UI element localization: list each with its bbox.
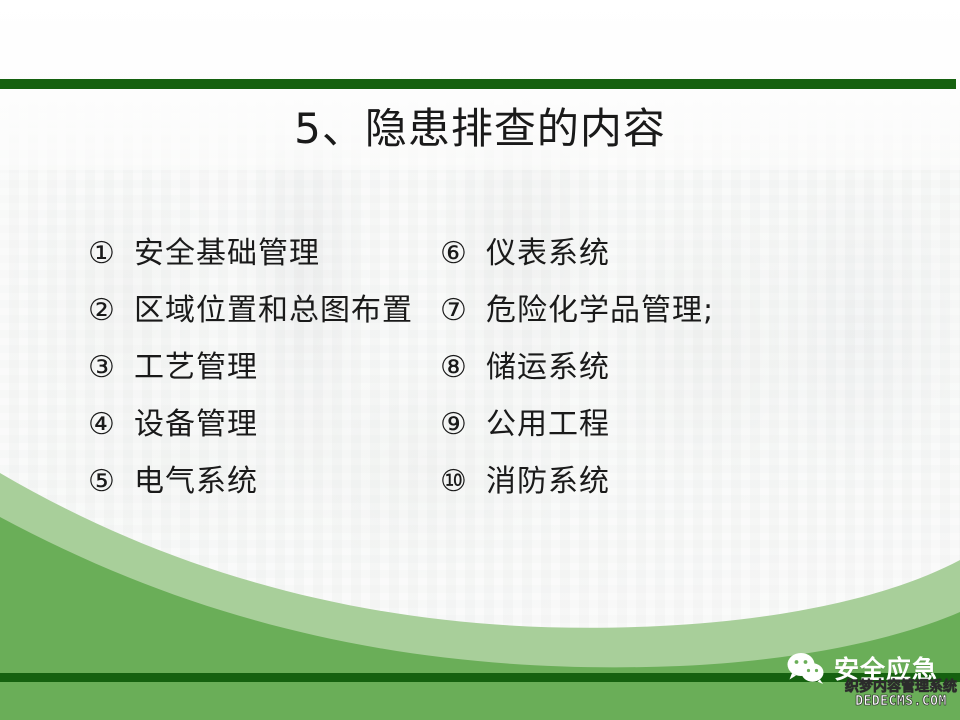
list-item: ⑦ 危险化学品管理; — [440, 285, 880, 342]
page-title: 5、隐患排查的内容 — [0, 104, 960, 154]
list-item: ⑨ 公用工程 — [440, 399, 880, 456]
watermark-chinese-text: 织梦内容管理系统 — [845, 680, 957, 695]
list-item: ③ 工艺管理 — [88, 342, 420, 399]
list-item: ② 区域位置和总图布置 — [88, 285, 420, 342]
dedecms-watermark: 织梦内容管理系统 DEDECMS.COM — [845, 680, 957, 708]
list-item: ① 安全基础管理 — [88, 228, 420, 285]
list-item-label: 储运系统 — [486, 342, 610, 386]
list-item-marker: ③ — [88, 350, 134, 385]
list-item-label: 设备管理 — [134, 399, 258, 443]
list-item-label: 安全基础管理 — [134, 228, 320, 272]
list-item-label: 区域位置和总图布置 — [134, 285, 413, 329]
watermark-domain-text: DEDECMS.COM — [845, 695, 957, 709]
right-column: ⑥ 仪表系统 ⑦ 危险化学品管理; ⑧ 储运系统 ⑨ 公用工程 ⑩ 消防系统 — [420, 228, 880, 513]
list-item-marker: ⑨ — [440, 407, 486, 442]
list-item: ⑤ 电气系统 — [88, 456, 420, 513]
slide: 5、隐患排查的内容 ① 安全基础管理 ② 区域位置和总图布置 ③ 工艺管理 ④ … — [0, 0, 960, 720]
list-item-label: 电气系统 — [134, 456, 258, 500]
list-item-marker: ⑥ — [440, 236, 486, 271]
list-item-marker: ⑩ — [440, 464, 486, 499]
list-item-label: 仪表系统 — [486, 228, 610, 272]
list-item: ④ 设备管理 — [88, 399, 420, 456]
top-divider-rule — [0, 79, 956, 89]
list-item-marker: ② — [88, 293, 134, 328]
list-item-label: 工艺管理 — [134, 342, 258, 386]
list-item-label: 公用工程 — [486, 399, 610, 443]
list-item-marker: ④ — [88, 407, 134, 442]
list-item-label: 危险化学品管理; — [486, 285, 714, 329]
list-item-marker: ⑦ — [440, 293, 486, 328]
list-item-marker: ① — [88, 236, 134, 271]
list-item: ⑩ 消防系统 — [440, 456, 880, 513]
list-item-marker: ⑤ — [88, 464, 134, 499]
list-item-label: 消防系统 — [486, 456, 610, 500]
wechat-icon — [786, 652, 826, 684]
content-list: ① 安全基础管理 ② 区域位置和总图布置 ③ 工艺管理 ④ 设备管理 ⑤ 电气系… — [0, 228, 960, 513]
left-column: ① 安全基础管理 ② 区域位置和总图布置 ③ 工艺管理 ④ 设备管理 ⑤ 电气系… — [0, 228, 420, 513]
list-item: ⑥ 仪表系统 — [440, 228, 880, 285]
list-item: ⑧ 储运系统 — [440, 342, 880, 399]
list-item-marker: ⑧ — [440, 350, 486, 385]
